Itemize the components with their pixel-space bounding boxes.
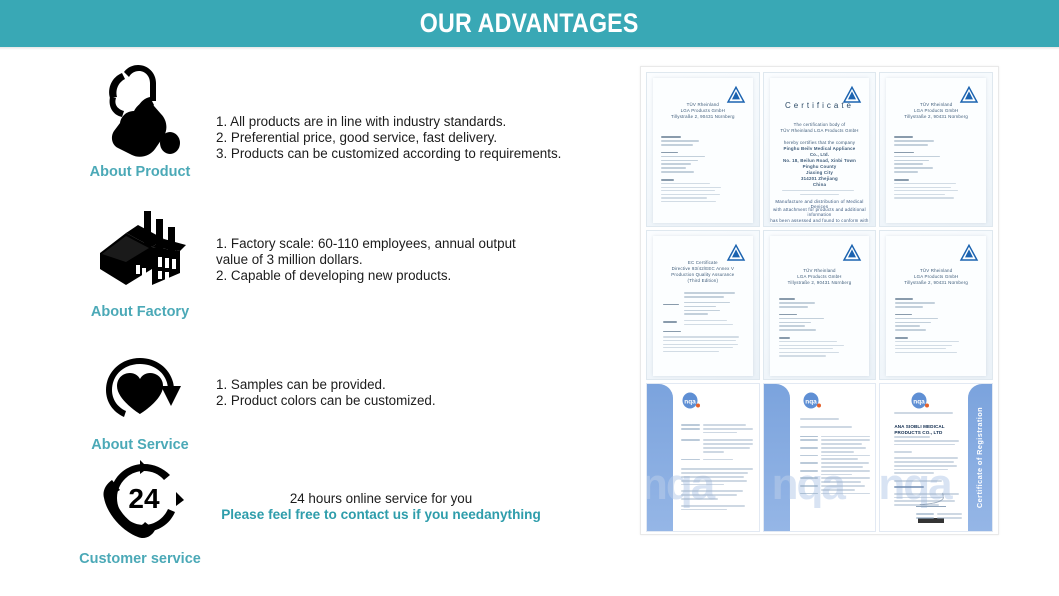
- advantage-label: Customer service: [60, 551, 220, 567]
- nqa-registration-sidebar: Certificate of Registration: [968, 384, 992, 531]
- certificate-thumbnail[interactable]: TÜV RheinlandLGA Products GmbHTillystraß…: [879, 72, 993, 227]
- advantage-line: 1. All products are in line with industr…: [216, 114, 611, 130]
- certificate-thumbnail[interactable]: TÜV RheinlandLGA Products GmbHTillystraß…: [646, 72, 760, 227]
- advantage-line: 2. Capable of developing new products.: [216, 268, 611, 284]
- certificate-sheet: TÜV RheinlandLGA Products GmbHTillystraß…: [886, 236, 986, 376]
- certificate-sheet: Certificate The certification body ofTÜV…: [770, 78, 870, 223]
- advantage-item-factory: About Factory 1. Factory scale: 60-110 e…: [0, 200, 620, 340]
- advantage-icon-wrap: About Service: [60, 345, 220, 453]
- certificate-scope2: with attachment for products and additio…: [770, 207, 870, 217]
- advantages-list: About Product 1. All products are in lin…: [0, 50, 620, 596]
- advantage-icon-wrap: About Product: [60, 60, 220, 180]
- advantage-line: 3. Products can be customized according …: [216, 146, 611, 162]
- blood-pressure-bulb-icon: [60, 60, 220, 160]
- certificate-company-name: ANA SIOBLI MEDICAL PRODUCTS CO., LTD: [894, 424, 962, 436]
- advantage-line: 1. Samples can be provided.: [216, 377, 611, 393]
- phone-24-hours-icon: 24: [60, 455, 220, 547]
- nqa-side-bar: [764, 384, 790, 531]
- certificate-body-lines: [663, 292, 743, 354]
- advantage-text: 1. All products are in line with industr…: [216, 114, 611, 161]
- certificate-body-lines: [779, 298, 861, 359]
- certificate-title: EC CertificateDirective 93/42/EEC Annex …: [653, 260, 753, 284]
- svg-text:nqa: nqa: [805, 399, 817, 406]
- advantage-text: 1. Factory scale: 60-110 employees, annu…: [216, 236, 611, 283]
- page-banner: OUR ADVANTAGES: [0, 0, 1059, 47]
- nqa-logo: nqa: [802, 392, 822, 412]
- advantage-label: About Factory: [60, 304, 220, 320]
- advantage-line: 1. Factory scale: 60-110 employees, annu…: [216, 236, 611, 252]
- certificate-body-lines: [895, 298, 977, 355]
- svg-text:nqa: nqa: [684, 399, 696, 406]
- certificate-intro-lines: [894, 412, 962, 416]
- certificate-thumbnail[interactable]: Certificate The certification body ofTÜV…: [763, 72, 877, 227]
- svg-text:24: 24: [128, 483, 160, 514]
- certificate-sheet: TÜV RheinlandLGA Products GmbHTillystraß…: [886, 78, 986, 223]
- certificate-body-lines: [800, 418, 871, 496]
- certificate-gallery: TÜV RheinlandLGA Products GmbHTillystraß…: [640, 66, 999, 535]
- certificate-subject: hereby certifies that the company Pinghu…: [770, 140, 870, 188]
- certificate-sheet: TÜV RheinlandLGA Products GmbHTillystraß…: [653, 78, 753, 223]
- certificate-sheet: EC CertificateDirective 93/42/EEC Annex …: [653, 236, 753, 376]
- certificate-title: TÜV RheinlandLGA Products GmbHTillystraß…: [886, 268, 986, 286]
- certificate-heading: Certificate: [770, 100, 870, 111]
- tuv-triangle-logo: [959, 243, 979, 265]
- certificate-grid: TÜV RheinlandLGA Products GmbHTillystraß…: [646, 72, 993, 529]
- advantage-line: 24 hours online service for you: [206, 491, 556, 507]
- advantages-page: OUR ADVANTAGES About Product: [0, 0, 1059, 596]
- certificate-body-lines: [894, 136, 978, 201]
- contact-cta: Please feel free to contact us if you ne…: [206, 507, 556, 523]
- certificate-standard-note: has been assessed and found to conform w…: [770, 218, 870, 223]
- certificate-title: TÜV RheinlandLGA Products GmbHTillystraß…: [886, 102, 986, 120]
- heart-refresh-icon: [60, 345, 220, 433]
- advantage-line: 2. Preferential price, good service, fas…: [216, 130, 611, 146]
- tuv-triangle-logo: [842, 243, 862, 265]
- advantage-text: 24 hours online service for you Please f…: [206, 491, 556, 523]
- advantage-text: 1. Samples can be provided. 2. Product c…: [216, 377, 611, 409]
- svg-text:nqa: nqa: [914, 399, 926, 406]
- advantage-label: About Product: [60, 164, 220, 180]
- registration-sidebar-text: Certificate of Registration: [975, 407, 984, 508]
- advantage-item-customer-service: 24 Customer service 24 hours online serv…: [0, 455, 620, 595]
- advantage-line: value of 3 million dollars.: [216, 252, 611, 268]
- nqa-side-bar: [647, 384, 673, 531]
- signature-mark: [916, 495, 946, 507]
- certificate-body-lines: [681, 424, 753, 512]
- certificate-dates: [916, 513, 962, 521]
- factory-icon: [60, 200, 220, 300]
- certificate-thumbnail[interactable]: nqa nqa: [763, 383, 877, 532]
- certificate-title: TÜV RheinlandLGA Products GmbHTillystraß…: [770, 268, 870, 286]
- certificate-thumbnail[interactable]: TÜV RheinlandLGA Products GmbHTillystraß…: [763, 230, 877, 380]
- advantage-line: 2. Product colors can be customized.: [216, 393, 611, 409]
- advantage-label: About Service: [60, 437, 220, 453]
- certificate-thumbnail[interactable]: Certificate of Registration nqa nqa ANA …: [879, 383, 993, 532]
- certificate-sheet: TÜV RheinlandLGA Products GmbHTillystraß…: [770, 236, 870, 376]
- certificate-title: The certification body ofTÜV Rheinland L…: [770, 122, 870, 134]
- advantage-item-product: About Product 1. All products are in lin…: [0, 60, 620, 200]
- certificate-thumbnail[interactable]: nqa nqa: [646, 383, 760, 532]
- certificate-title: TÜV RheinlandLGA Products GmbHTillystraß…: [653, 102, 753, 120]
- certificate-body-lines: [661, 136, 745, 204]
- advantage-icon-wrap: About Factory: [60, 200, 220, 320]
- nqa-logo: nqa: [910, 392, 930, 412]
- nqa-logo: nqa: [681, 392, 701, 412]
- certificate-thumbnail[interactable]: EC CertificateDirective 93/42/EEC Annex …: [646, 230, 760, 380]
- advantage-icon-wrap: 24 Customer service: [60, 455, 220, 567]
- certificate-thumbnail[interactable]: TÜV RheinlandLGA Products GmbHTillystraß…: [879, 230, 993, 380]
- page-title: OUR ADVANTAGES: [420, 8, 639, 39]
- certificate-body-lines: [782, 190, 858, 197]
